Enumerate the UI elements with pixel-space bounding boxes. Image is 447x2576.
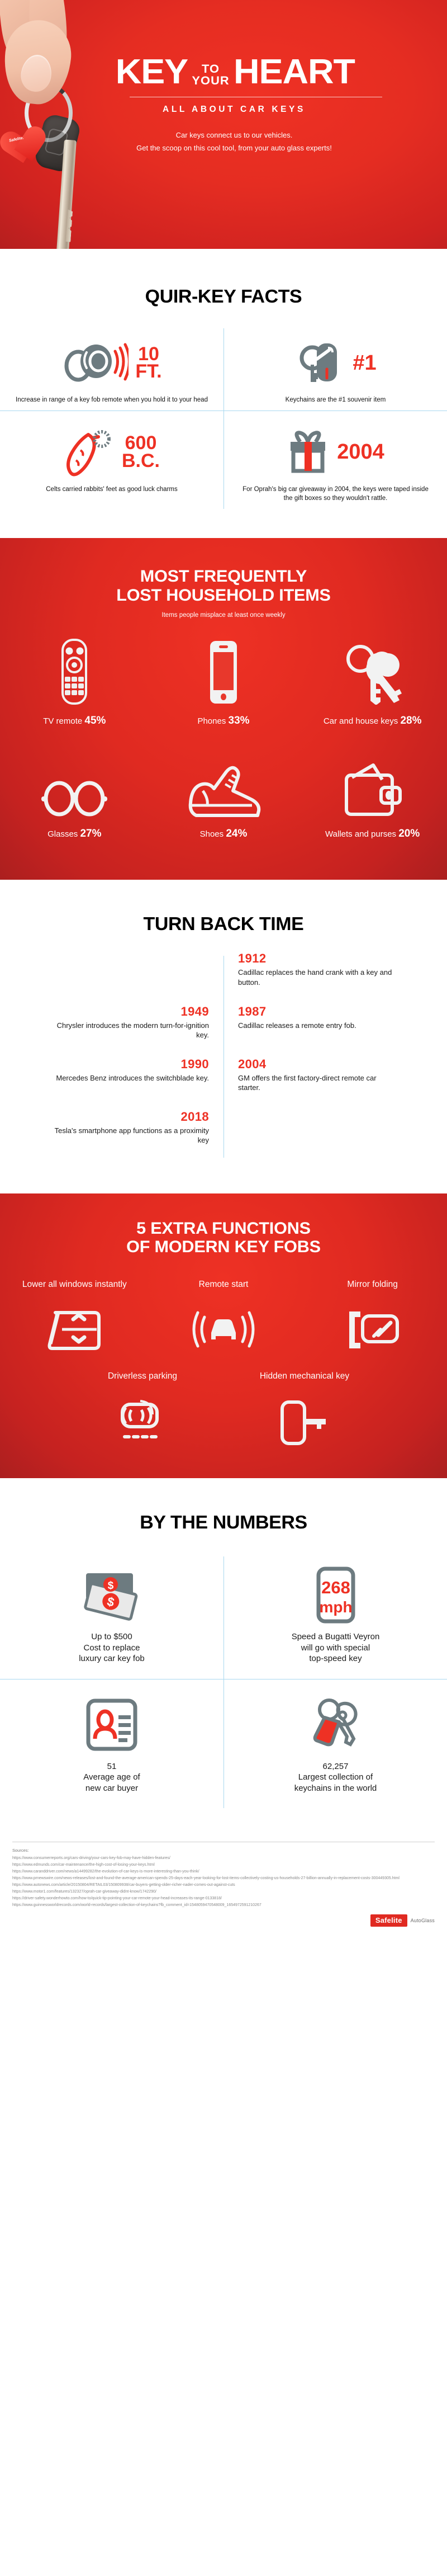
- smartphone-icon: [157, 639, 291, 705]
- quirkey-caption-3: For Oprah's big car giveaway in 2004, th…: [240, 485, 431, 503]
- brand-logo: Safelite AutoGlass: [12, 1914, 435, 1927]
- fob-functions-section: 5 EXTRA FUNCTIONS OF MODERN KEY FOBS Low…: [0, 1193, 447, 1478]
- gift-box-icon: [287, 430, 330, 475]
- svg-text:$: $: [108, 1580, 114, 1592]
- timeline-event-3: 1990 Mercedes Benz introduces the switch…: [34, 1057, 223, 1110]
- number-headline-2: 51: [20, 1761, 203, 1772]
- tv-remote-icon: [8, 639, 141, 705]
- lost-items-subtitle: Items people misplace at least once week…: [0, 612, 447, 619]
- cash-money-icon: $ $: [20, 1567, 203, 1625]
- lost-item-1: Phones 33%: [149, 639, 298, 728]
- number-stat-0: $ $ Up to $500 Cost to replace luxury ca…: [0, 1556, 223, 1679]
- window-down-icon: [7, 1308, 142, 1356]
- lost-title-line1: MOST FREQUENTLY: [140, 567, 307, 586]
- lost-item-label-1: Phones 33%: [157, 714, 291, 728]
- wallet-icon: [306, 752, 439, 818]
- fob-function-4: Hidden mechanical key: [223, 1371, 386, 1448]
- lost-item-label-0: TV remote 45%: [8, 714, 141, 728]
- lost-item-label-2: Car and house keys 28%: [306, 714, 439, 728]
- quirkey-caption-1: Keychains are the #1 souvenir item: [240, 395, 431, 405]
- fob-function-0: Lower all windows instantly: [0, 1279, 149, 1356]
- page-subtitle: ALL ABOUT CAR KEYS: [0, 105, 447, 115]
- page-title: KEYTOYOURHEART: [0, 56, 447, 89]
- lost-item-label-3: Glasses 27%: [8, 827, 141, 841]
- keychain-tag-icon: [244, 1696, 427, 1754]
- timeline-event-2: 1987 Cadillac releases a remote entry fo…: [223, 1004, 413, 1057]
- by-the-numbers-grid: $ $ Up to $500 Cost to replace luxury ca…: [0, 1556, 447, 1808]
- timeline-axis: [223, 956, 224, 1157]
- lost-item-4: Shoes 24%: [149, 752, 298, 841]
- remote-start-car-icon: [156, 1308, 292, 1356]
- number-stat-2: 51 Average age of new car buyer: [0, 1679, 223, 1809]
- timeline-event-1: 1949 Chrysler introduces the modern turn…: [34, 1004, 223, 1057]
- timeline-section: TURN BACK TIME 1912 Cadillac replaces th…: [0, 880, 447, 1193]
- source-link-1[interactable]: https://www.edmunds.com/car-maintenance/…: [12, 1862, 435, 1869]
- quirkey-facts-section: QUIR-KEY FACTS: [0, 249, 447, 538]
- hero-line-1: Car keys connect us to our vehicles.: [21, 129, 447, 142]
- lost-item-5: Wallets and purses 20%: [298, 752, 447, 841]
- quirkey-stat-3: 2004: [337, 442, 384, 462]
- fob-title-line2: OF MODERN KEY FOBS: [126, 1238, 321, 1256]
- number-stat-3: 62,257 Largest collection of keychains i…: [223, 1679, 447, 1809]
- key-fob-signal-icon: [61, 341, 129, 385]
- lost-title-line2: LOST HOUSEHOLD ITEMS: [116, 586, 331, 605]
- speed-key-card-icon: 268 mph: [244, 1567, 427, 1625]
- hero-line-2: Get the scoop on this cool tool, from yo…: [21, 142, 447, 155]
- keychain-souvenir-icon: [294, 340, 346, 386]
- title-to: TO: [192, 63, 229, 75]
- timeline-event-0: 1912 Cadillac replaces the hand crank wi…: [223, 951, 413, 1004]
- side-mirror-icon: [305, 1308, 440, 1356]
- quirkey-fact-2: 600 B.C. Celts carried rabbits' feet as …: [0, 411, 223, 509]
- source-link-7[interactable]: https://www.guinnessworldrecords.com/wor…: [12, 1902, 435, 1909]
- lost-item-2: Car and house keys 28%: [298, 639, 447, 728]
- title-your: YOUR: [192, 75, 229, 87]
- fob-function-2: Mirror folding: [298, 1279, 447, 1356]
- by-the-numbers-title: BY THE NUMBERS: [0, 1512, 447, 1533]
- fob-function-1: Remote start: [149, 1279, 298, 1356]
- number-stat-1: 268 mph Speed a Bugatti Veyron will go w…: [223, 1556, 447, 1679]
- lost-item-label-4: Shoes 24%: [157, 827, 291, 841]
- driverless-parking-icon: [68, 1400, 217, 1448]
- hero-section: Safelite. KEYTOYOURHEART ALL ABOUT CAR K…: [0, 0, 447, 249]
- svg-text:268: 268: [321, 1578, 350, 1597]
- keys-icon: [306, 639, 439, 705]
- number-caption-3: 62,257 Largest collection of keychains i…: [244, 1761, 427, 1794]
- lost-items-section: MOST FREQUENTLY LOST HOUSEHOLD ITEMS Ite…: [0, 538, 447, 880]
- sources-label: Sources:: [12, 1848, 435, 1853]
- lost-item-3: Glasses 27%: [0, 752, 149, 841]
- sneaker-icon: [157, 752, 291, 818]
- svg-text:mph: mph: [319, 1598, 352, 1616]
- hidden-mechanical-key-icon: [230, 1400, 379, 1448]
- drivers-license-icon: [20, 1696, 203, 1754]
- title-divider: [130, 97, 382, 97]
- source-link-2[interactable]: https://www.caranddriver.com/news/a14499…: [12, 1869, 435, 1875]
- quirkey-stat-0: 10 FT.: [135, 346, 161, 381]
- timeline-title: TURN BACK TIME: [0, 913, 447, 935]
- lost-items-title: MOST FREQUENTLY LOST HOUSEHOLD ITEMS: [0, 567, 447, 605]
- title-key: KEY: [116, 53, 188, 91]
- brand-subtitle: AutoGlass: [411, 1918, 435, 1923]
- eyeglasses-icon: [8, 752, 141, 818]
- number-headline-3: 62,257: [244, 1761, 427, 1772]
- source-link-4[interactable]: https://www.autonews.com/article/2015080…: [12, 1882, 435, 1889]
- timeline-event-5: 2018 Tesla's smartphone app functions as…: [34, 1110, 223, 1162]
- source-link-6[interactable]: https://driver-safety.wonderhowto.com/ho…: [12, 1895, 435, 1902]
- title-to-your: TOYOUR: [192, 63, 229, 87]
- quirkey-fact-0: 10 FT. Increase in range of a key fob re…: [0, 328, 223, 411]
- quirkey-title: QUIR-KEY FACTS: [0, 286, 447, 307]
- fob-functions-title: 5 EXTRA FUNCTIONS OF MODERN KEY FOBS: [0, 1219, 447, 1257]
- quirkey-fact-1: #1 Keychains are the #1 souvenir item: [223, 328, 447, 411]
- quirkey-grid: 10 FT. Increase in range of a key fob re…: [0, 328, 447, 509]
- fob-function-3: Driverless parking: [61, 1371, 223, 1448]
- by-the-numbers-section: BY THE NUMBERS $ $ U: [0, 1478, 447, 1833]
- source-link-5[interactable]: https://www.motor1.com/features/132327/o…: [12, 1889, 435, 1895]
- number-caption-2: 51 Average age of new car buyer: [20, 1761, 203, 1794]
- quirkey-stat-2: 600 B.C.: [122, 435, 160, 470]
- lost-items-row-2: Glasses 27% Shoes: [0, 752, 447, 841]
- infographic-page: Safelite. KEYTOYOURHEART ALL ABOUT CAR K…: [0, 0, 447, 1937]
- timeline-event-4: 2004 GM offers the first factory-direct …: [223, 1057, 413, 1110]
- title-heart: HEART: [234, 53, 355, 91]
- fob-functions-row-2: Driverless parking: [0, 1371, 447, 1448]
- lost-item-0: TV remote 45%: [0, 639, 149, 728]
- number-caption-1: Speed a Bugatti Veyron will go with spec…: [244, 1631, 427, 1664]
- source-link-0[interactable]: https://www.consumerreports.org/cars-dri…: [12, 1855, 435, 1862]
- rabbits-foot-icon: [64, 428, 115, 477]
- source-link-3[interactable]: https://www.prnewswire.com/news-releases…: [12, 1875, 435, 1882]
- quirkey-stat-1: #1: [353, 353, 376, 373]
- fob-title-line1: 5 EXTRA FUNCTIONS: [136, 1219, 311, 1238]
- fob-functions-row-1: Lower all windows instantly Remote start: [0, 1279, 447, 1356]
- number-caption-0: Up to $500 Cost to replace luxury car ke…: [20, 1631, 203, 1664]
- quirkey-fact-3: 2004 For Oprah's big car giveaway in 200…: [223, 411, 447, 509]
- footer: Sources: https://www.consumerreports.org…: [0, 1833, 447, 1937]
- lost-items-row-1: TV remote 45% Phones 33%: [0, 639, 447, 728]
- quirkey-caption-2: Celts carried rabbits' feet as good luck…: [16, 485, 208, 494]
- brand-name: Safelite: [370, 1914, 407, 1927]
- quirkey-caption-0: Increase in range of a key fob remote wh…: [16, 395, 208, 405]
- lost-item-label-5: Wallets and purses 20%: [306, 827, 439, 841]
- footer-divider: [12, 1842, 435, 1842]
